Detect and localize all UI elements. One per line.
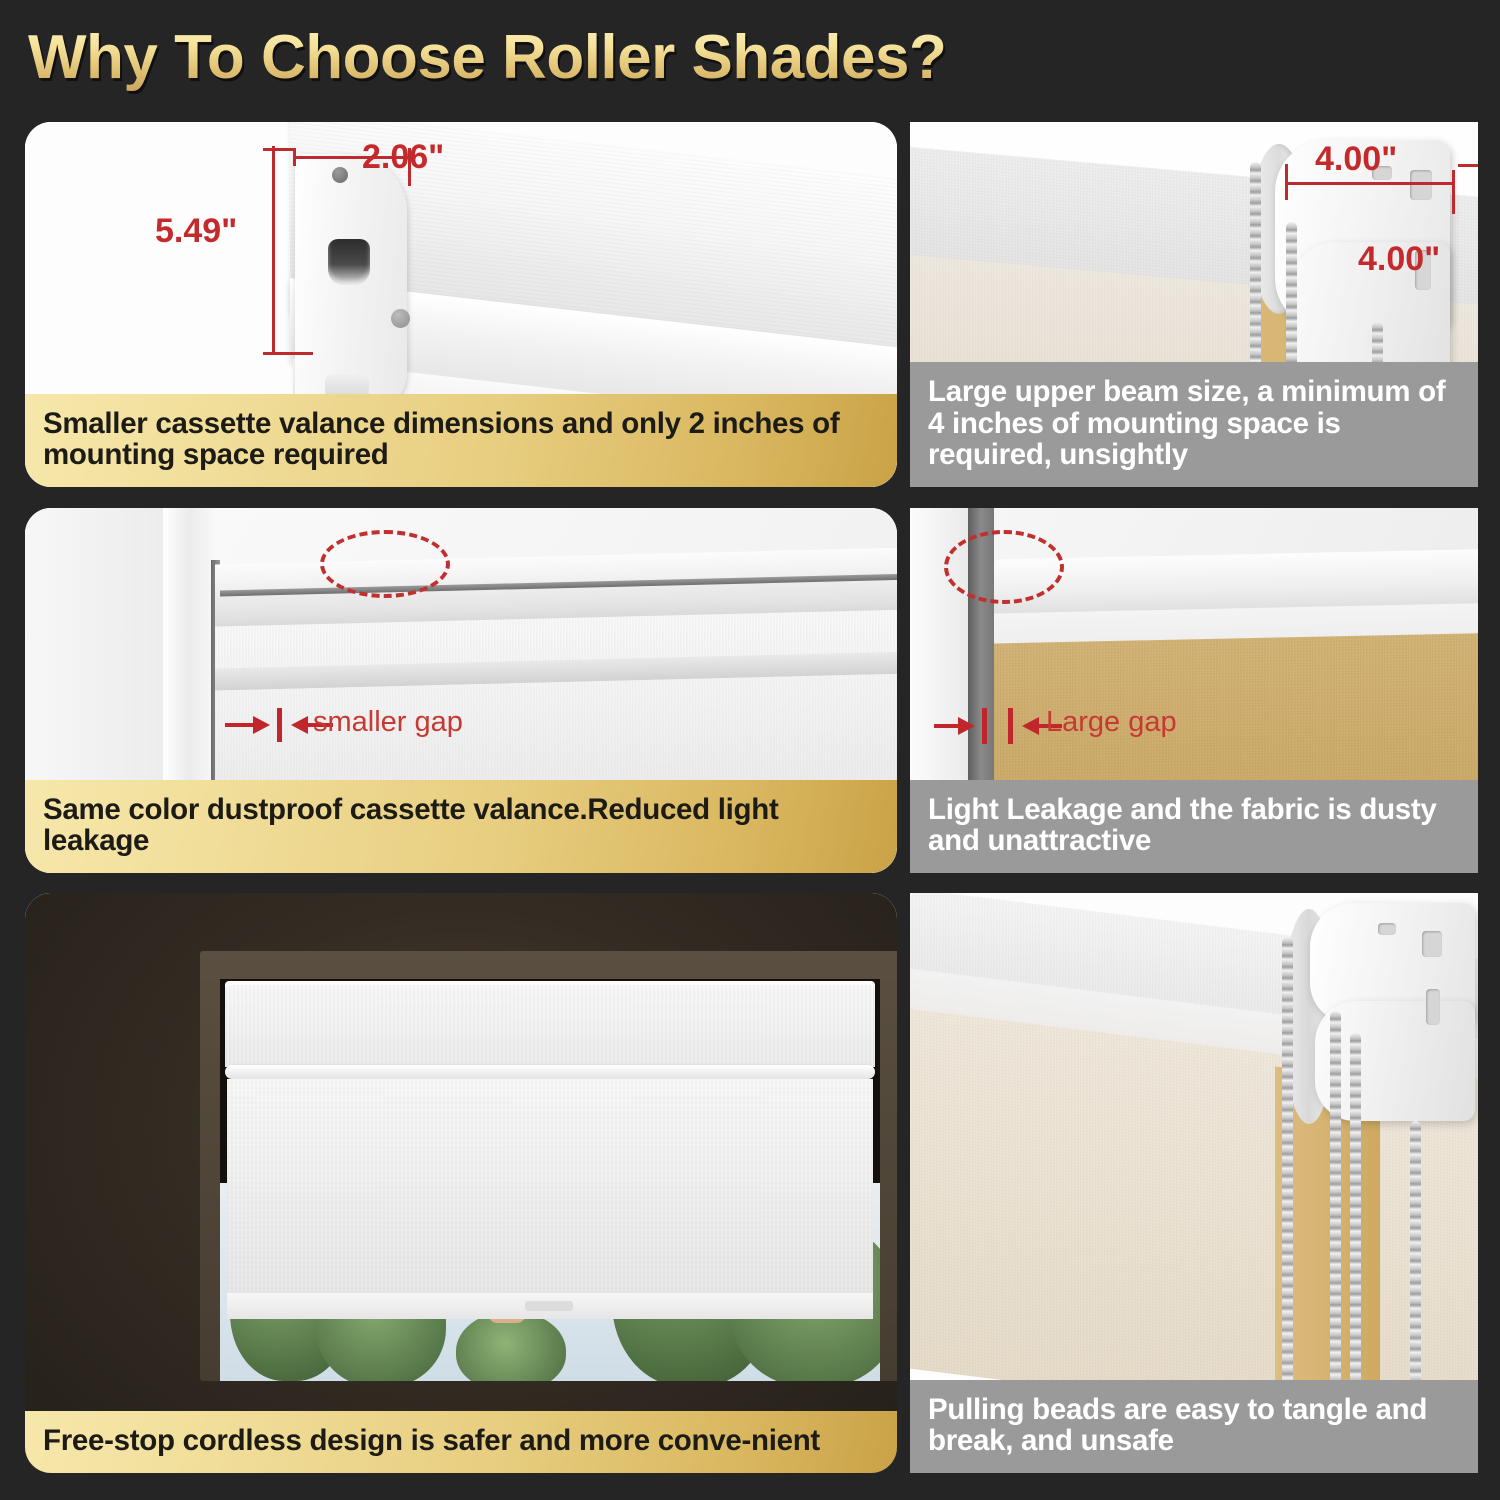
bracket-slot-1 [1410,170,1432,200]
gap-arrow-left-icon [1022,717,1039,735]
bead-chain-front [1282,937,1293,1407]
panel-large-upper-beam: 4.00" 4.00" Large upper beam size, a min… [910,122,1478,487]
panel-1-caption: Smaller cassette valance dimensions and … [25,394,897,487]
gap-arrow-right-icon [253,716,270,734]
shade-fabric-body [227,1079,873,1309]
bead-chain-middle [1330,1011,1341,1411]
highlight-ellipse-icon [320,530,450,598]
panel-5-photo [25,893,897,1473]
gap-marker-bar-1 [982,708,987,744]
height-dim-seg-a [272,146,275,186]
panel-3-caption: Same color dustproof cassette valance.Re… [25,780,897,873]
gap-arrow-right-icon [958,717,975,735]
smaller-gap-label: smaller gap [313,706,463,739]
panel-cordless-design: Free-stop cordless design is safer and m… [25,893,897,1473]
beam-width-dim-line [1285,182,1455,185]
page-title-bar: Why To Choose Roller Shades? [28,22,1088,100]
end-cap-screw-top [332,167,348,183]
beam-height-label: 4.00" [1358,240,1440,279]
gap-arrow-stem-left [225,723,255,727]
beam-width-tick-right [1452,170,1455,214]
shade-pull-tab [525,1301,573,1311]
gap-arrow-stem-left [934,724,960,728]
panel-smaller-cassette: 2.06" 5.49" Smaller cassette valance dim… [25,122,897,487]
highlight-ellipse-icon [944,530,1064,604]
bead-chain-loose [1410,1121,1421,1413]
beam-height-tick-top [1458,164,1478,167]
shade-headrail-fabric [225,985,875,1067]
large-gap-label: Large gap [1046,706,1177,739]
bead-chain-inner [1350,1033,1361,1413]
panel-5-caption: Free-stop cordless design is safer and m… [25,1411,897,1473]
height-dim-seg-b [272,250,275,355]
height-dim-tick-bottom [263,352,313,355]
shade-valance-bar [225,1065,875,1079]
width-dimension-label: 2.06" [362,138,444,177]
panel-4-caption: Light Leakage and the fabric is dusty an… [910,780,1478,873]
comparison-grid: Why To Choose Roller Shades? 2.06" [0,0,1500,1500]
panel-smaller-gap: smaller gap Same color dustproof cassett… [25,508,897,873]
bracket-slot-3 [1426,989,1440,1025]
height-dimension-label: 5.49" [155,212,237,251]
panel-6-caption: Pulling beads are easy to tangle and bre… [910,1380,1478,1473]
gap-marker-bar [277,708,282,742]
end-cap-screw-mid [391,309,410,328]
end-cap-opening [328,239,370,285]
gap-marker-bar-2 [1008,708,1013,744]
panel-pulling-beads: Pulling beads are easy to tangle and bre… [910,893,1478,1473]
beam-width-label: 4.00" [1315,140,1397,179]
page-title: Why To Choose Roller Shades? [28,22,1088,93]
gap-arrow-left-icon [291,716,308,734]
bracket-slot-2 [1378,923,1396,935]
beam-width-tick-left [1285,164,1288,200]
panel-large-gap: Large gap Light Leakage and the fabric i… [910,508,1478,873]
height-dim-tick-top [263,148,295,151]
panel-2-caption: Large upper beam size, a minimum of 4 in… [910,362,1478,487]
bracket-slot-1 [1422,931,1442,957]
